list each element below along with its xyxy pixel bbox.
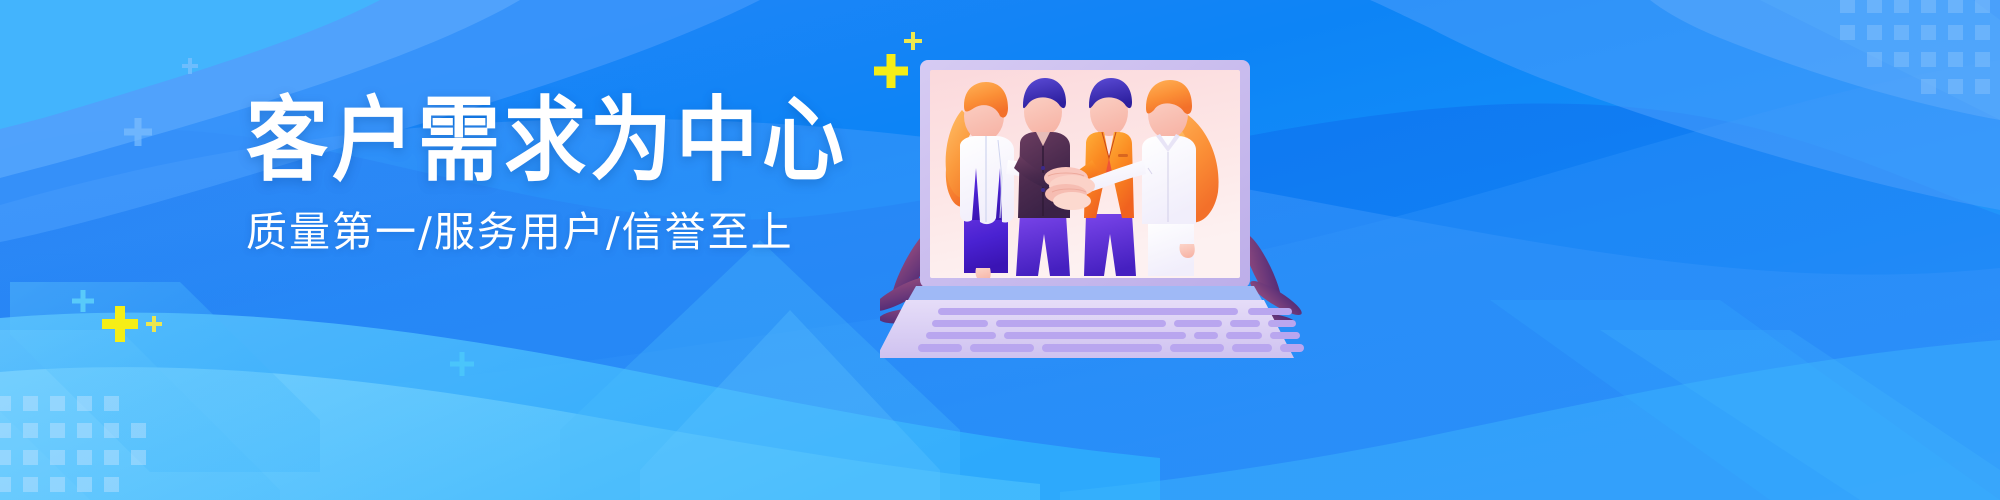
plus-cyan-mid-icon [450,352,474,376]
dot-grid-bottom-left [0,394,164,500]
laptop-hinge [908,286,1262,300]
plus-light-upper-left-icon [182,58,198,74]
laptop-team-illustration [880,28,1310,358]
page-subtitle: 质量第一/服务用户/信誉至上 [246,212,866,253]
promo-banner: 客户需求为中心 质量第一/服务用户/信誉至上 [0,0,2000,500]
text-block: 客户需求为中心 质量第一/服务用户/信誉至上 [246,96,866,253]
page-title: 客户需求为中心 [246,96,866,188]
dot-grid-top-right [1838,0,2000,116]
plus-yellow-small-left-icon [146,316,162,332]
plus-cyan-left-icon [72,290,94,312]
plus-light-left-icon [124,118,152,146]
plus-yellow-large-left-icon [102,306,138,342]
